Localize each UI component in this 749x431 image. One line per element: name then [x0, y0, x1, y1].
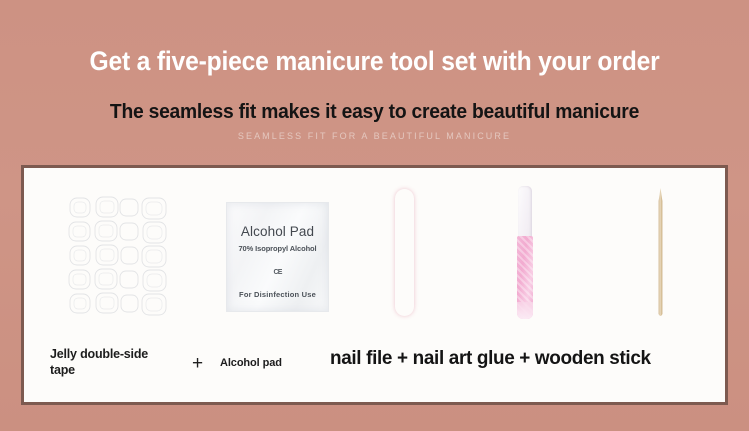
caption-tool-group: nail file + nail art glue + wooden stick — [330, 346, 651, 371]
product-image-nail-art-glue — [484, 168, 574, 338]
alcohol-pad-package: Alcohol Pad 70% Isopropyl Alcohol CE For… — [226, 202, 329, 312]
subtitle: The seamless fit makes it easy to create… — [22, 101, 726, 124]
ce-mark-icon: CE — [227, 269, 328, 276]
product-image-jelly-tape — [38, 168, 188, 338]
micro-caption: SEAMLESS FIT FOR A BEAUTIFUL MANICURE — [0, 132, 749, 142]
glue-body — [517, 236, 533, 319]
nail-file-icon — [395, 189, 414, 316]
product-caption-row: Jelly double-side tape + Alcohol pad nai… — [24, 338, 725, 402]
product-showcase-panel: Alcohol Pad 70% Isopropyl Alcohol CE For… — [21, 165, 728, 405]
alcohol-pad-subtitle: 70% Isopropyl Alcohol — [227, 244, 328, 253]
caption-jelly-tape: Jelly double-side tape — [50, 346, 168, 378]
alcohol-pad-title: Alcohol Pad — [227, 224, 328, 239]
promo-banner: Get a five-piece manicure tool set with … — [0, 0, 749, 431]
wooden-stick-icon — [657, 188, 664, 318]
product-image-alcohol-pad: Alcohol Pad 70% Isopropyl Alcohol CE For… — [207, 168, 342, 338]
nail-art-glue-icon — [517, 186, 533, 319]
caption-alcohol-pad: Alcohol pad — [220, 356, 282, 370]
product-image-nail-file — [364, 168, 454, 338]
caption-separator-plus: + — [192, 352, 203, 376]
product-image-row: Alcohol Pad 70% Isopropyl Alcohol CE For… — [24, 168, 725, 338]
alcohol-pad-usage-text: For Disinfection Use — [227, 290, 328, 299]
glue-cap — [518, 186, 532, 240]
product-image-wooden-stick — [619, 168, 699, 338]
page-title: Get a five-piece manicure tool set with … — [26, 47, 723, 76]
jelly-tape-sheet-icon — [66, 194, 171, 327]
